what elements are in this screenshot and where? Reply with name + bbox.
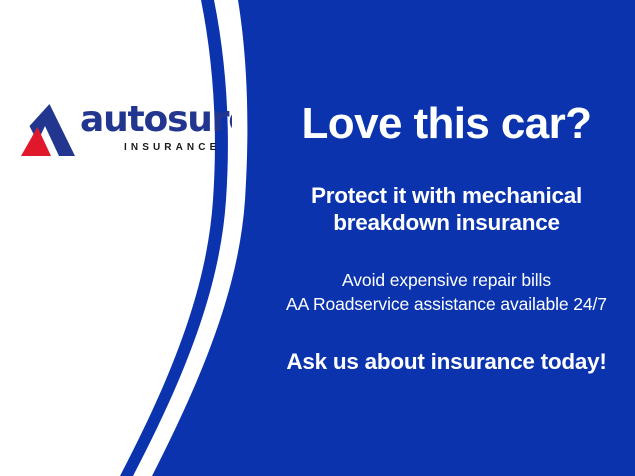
benefit-line-2: AA Roadservice assistance available 24/7 — [258, 292, 635, 316]
autosure-wordmark-text: autosure — [80, 99, 232, 140]
subheadline: Protect it with mechanical breakdown ins… — [258, 182, 635, 237]
headline-love-this-car: Love this car? — [258, 102, 635, 146]
autosure-insurance-banner: autosure INSURANCE Love this car? Protec… — [0, 0, 635, 476]
logo-subtitle-insurance: INSURANCE — [124, 142, 220, 153]
subheadline-line-1: Protect it with mechanical — [258, 182, 635, 209]
logo-red-triangle — [21, 127, 51, 156]
subheadline-line-2: breakdown insurance — [258, 209, 635, 236]
promotional-copy-block: Love this car? Protect it with mechanica… — [258, 0, 635, 476]
autosure-mountain-mark-icon — [18, 100, 76, 158]
call-to-action-text: Ask us about insurance today! — [258, 349, 635, 375]
autosure-logo-lockup: autosure INSURANCE — [18, 98, 233, 164]
autosure-wordmark: autosure — [80, 98, 232, 140]
benefit-line-1: Avoid expensive repair bills — [258, 268, 635, 292]
benefits-list: Avoid expensive repair bills AA Roadserv… — [258, 268, 635, 316]
